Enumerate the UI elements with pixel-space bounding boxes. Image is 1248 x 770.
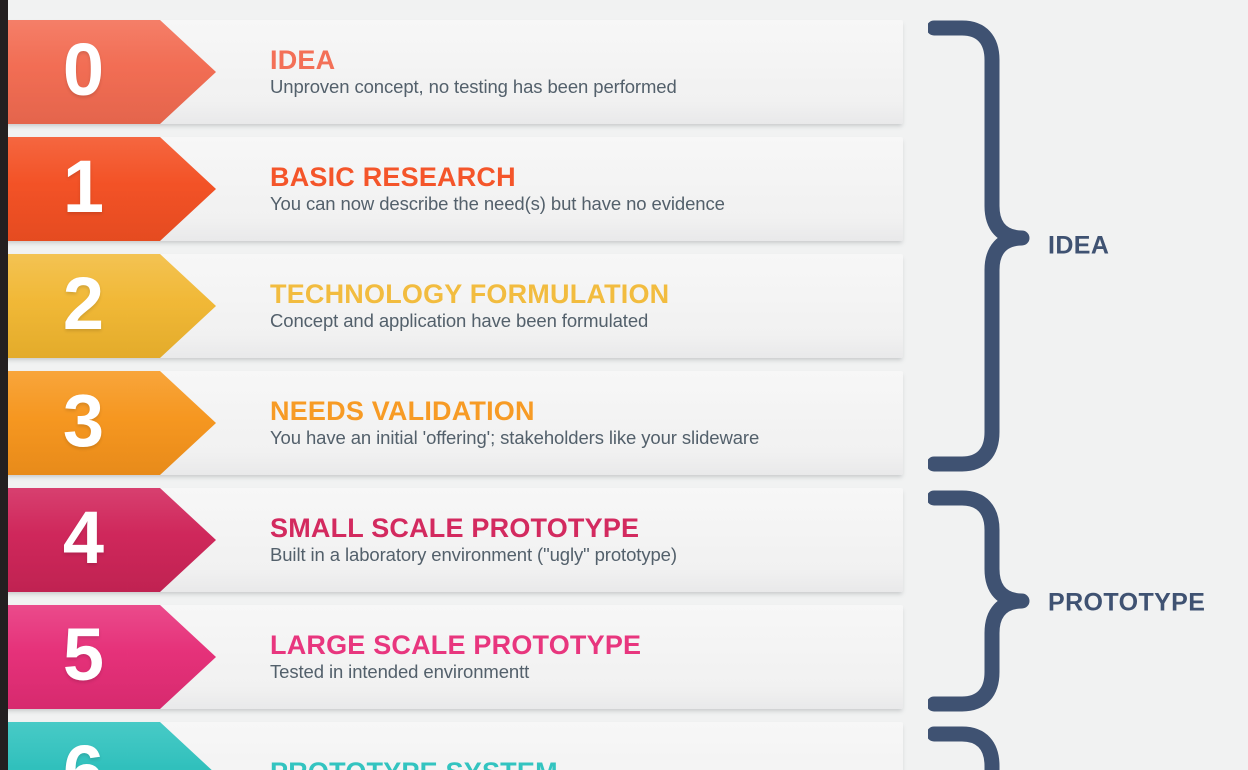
stage-title-3: NEEDS VALIDATION [270, 397, 890, 425]
stage-title-2: TECHNOLOGY FORMULATION [270, 280, 890, 308]
brace-group-prototype: PROTOTYPE [928, 490, 1038, 712]
stage-title-5: LARGE SCALE PROTOTYPE [270, 631, 890, 659]
stage-title-6: PROTOTYPE SYSTEM [270, 758, 890, 770]
stage-number-4: 4 [0, 488, 166, 592]
stage-text-2: TECHNOLOGY FORMULATION Concept and appli… [270, 254, 890, 358]
stage-text-4: SMALL SCALE PROTOTYPE Built in a laborat… [270, 488, 890, 592]
stage-row-3[interactable]: 3 NEEDS VALIDATION You have an initial '… [0, 371, 903, 475]
stage-description-3: You have an initial 'offering'; stakehol… [270, 428, 890, 449]
stage-text-6: PROTOTYPE SYSTEM [270, 722, 890, 770]
stage-text-0: IDEA Unproven concept, no testing has be… [270, 20, 890, 124]
brace-label-idea: IDEA [1048, 232, 1109, 261]
stage-number-6: 6 [0, 722, 166, 770]
stage-description-1: You can now describe the need(s) but hav… [270, 194, 890, 215]
stage-number-2: 2 [0, 254, 166, 358]
brace-idea-icon [928, 20, 1038, 472]
stage-text-3: NEEDS VALIDATION You have an initial 'of… [270, 371, 890, 475]
brace-label-prototype: PROTOTYPE [1048, 589, 1205, 618]
stage-number-3: 3 [0, 371, 166, 475]
stage-row-5[interactable]: 5 LARGE SCALE PROTOTYPE Tested in intend… [0, 605, 903, 709]
stage-title-4: SMALL SCALE PROTOTYPE [270, 514, 890, 542]
stage-row-2[interactable]: 2 TECHNOLOGY FORMULATION Concept and app… [0, 254, 903, 358]
stage-row-0[interactable]: 0 IDEA Unproven concept, no testing has … [0, 20, 903, 124]
stage-row-4[interactable]: 4 SMALL SCALE PROTOTYPE Built in a labor… [0, 488, 903, 592]
stage-number-1: 1 [0, 137, 166, 241]
stage-description-0: Unproven concept, no testing has been pe… [270, 77, 890, 98]
stage-title-1: BASIC RESEARCH [270, 163, 890, 191]
stage-text-5: LARGE SCALE PROTOTYPE Tested in intended… [270, 605, 890, 709]
stage-title-0: IDEA [270, 46, 890, 74]
stage-description-2: Concept and application have been formul… [270, 311, 890, 332]
brace-group-idea: IDEA [928, 20, 1038, 472]
brace-prototype-icon [928, 490, 1038, 712]
trl-infographic: 0 IDEA Unproven concept, no testing has … [0, 0, 1248, 770]
left-edge-strip [0, 0, 8, 770]
stage-description-5: Tested in intended environmentt [270, 662, 890, 683]
stage-text-1: BASIC RESEARCH You can now describe the … [270, 137, 890, 241]
brace-group-third [928, 726, 1038, 770]
stage-number-0: 0 [0, 20, 166, 124]
stage-number-5: 5 [0, 605, 166, 709]
brace-third-icon [928, 726, 1038, 770]
stage-row-1[interactable]: 1 BASIC RESEARCH You can now describe th… [0, 137, 903, 241]
stage-row-6[interactable]: 6 PROTOTYPE SYSTEM [0, 722, 903, 770]
stage-description-4: Built in a laboratory environment ("ugly… [270, 545, 890, 566]
